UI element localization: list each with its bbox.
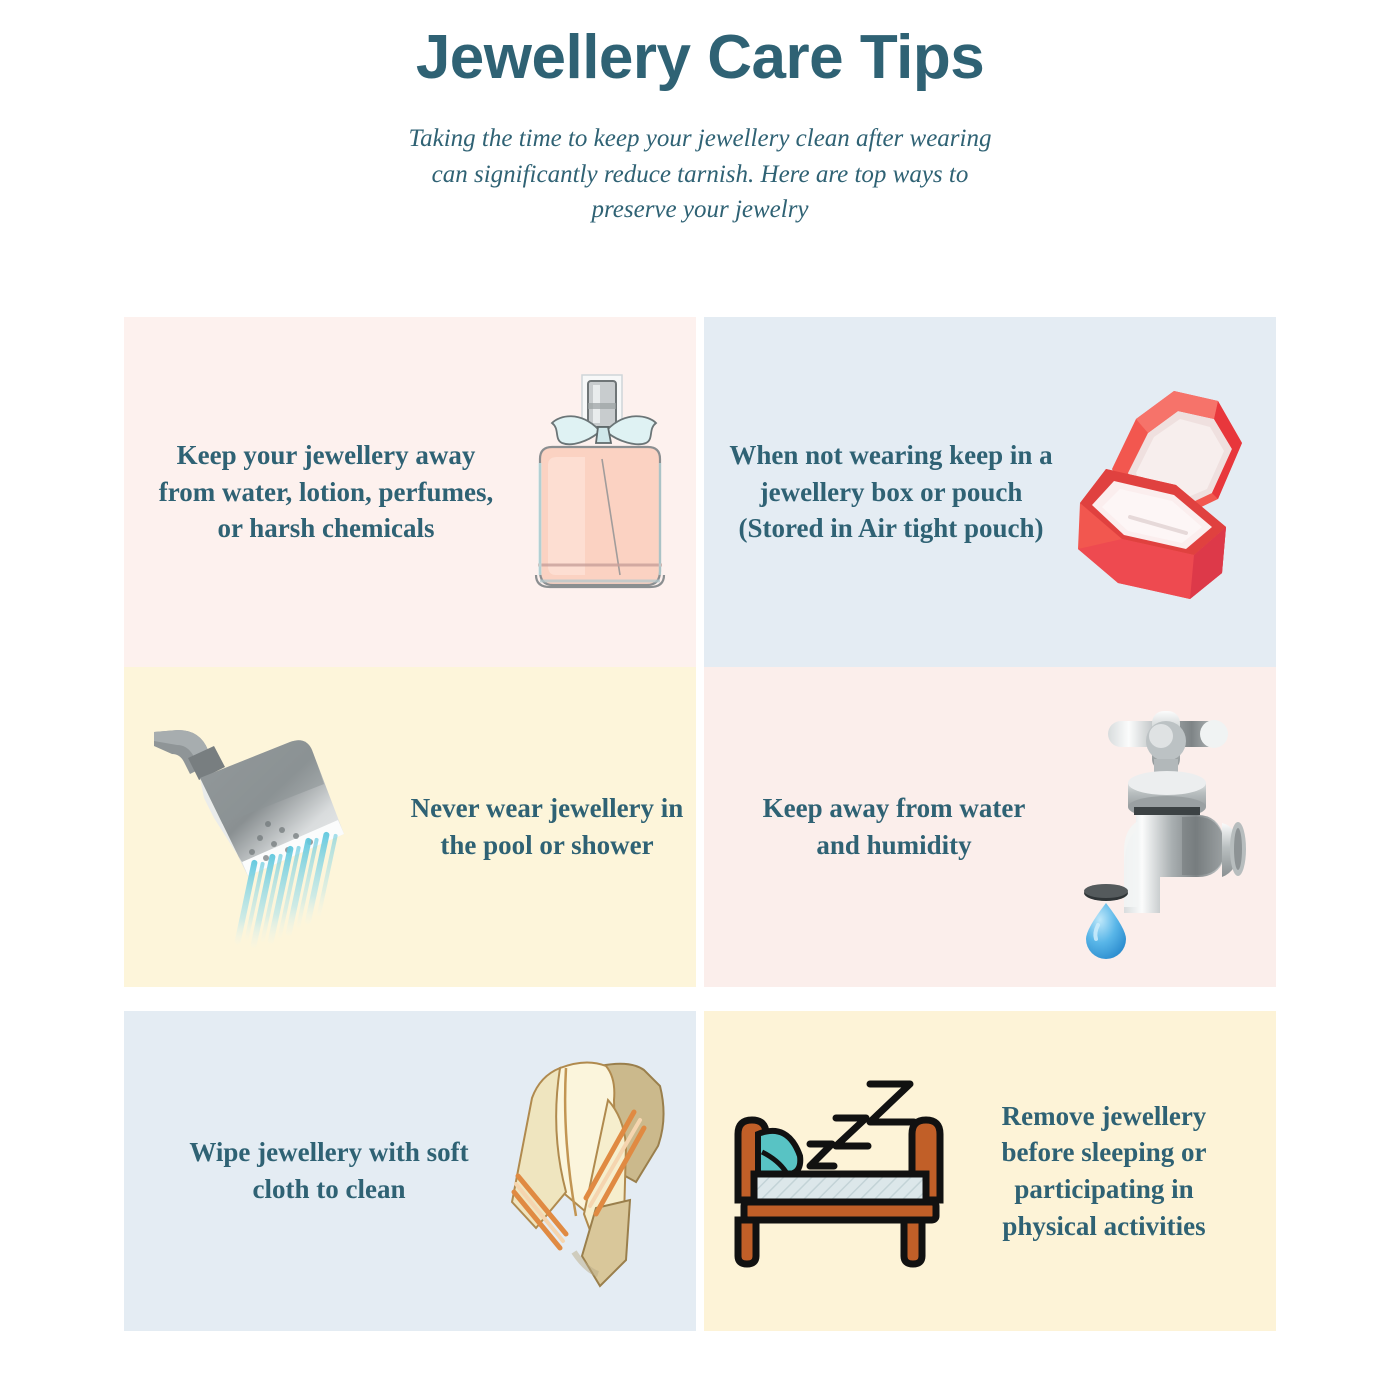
perfume-bottle-icon (510, 367, 690, 617)
page-header: Jewellery Care Tips Taking the time to k… (0, 0, 1400, 228)
tip-card-no-pool-or-shower[interactable]: Never wear jewellery in the pool or show… (124, 667, 696, 987)
grid-cell-4: Keep away from water and humidity (700, 667, 1276, 1011)
tip-card-text: Remove jewellery before sleeping or part… (964, 1098, 1244, 1245)
tip-card-text: Keep away from water and humidity (744, 790, 1044, 863)
grid-cell-6: Remove jewellery before sleeping or part… (700, 1011, 1276, 1355)
tip-card-wipe-with-cloth[interactable]: Wipe jewellery with soft cloth to clean (124, 1011, 696, 1331)
ring-box-icon (1066, 377, 1266, 607)
tip-card-text: When not wearing keep in a jewellery box… (726, 437, 1056, 547)
bed-sleep-icon (724, 1066, 954, 1276)
tip-card-remove-before-sleeping[interactable]: Remove jewellery before sleeping or part… (704, 1011, 1276, 1331)
tip-card-away-from-water[interactable]: Keep away from water and humidity (704, 667, 1276, 987)
tips-grid: Keep your jewellery away from water, lot… (124, 317, 1275, 1355)
tip-card-store-in-box[interactable]: When not wearing keep in a jewellery box… (704, 317, 1276, 667)
shower-head-icon (148, 712, 388, 942)
tip-card-text: Never wear jewellery in the pool or show… (398, 790, 696, 863)
tip-card-text: Keep your jewellery away from water, lot… (146, 437, 506, 547)
tip-card-away-from-chemicals[interactable]: Keep your jewellery away from water, lot… (124, 317, 696, 667)
page-title: Jewellery Care Tips (0, 22, 1400, 93)
infographic-page: Jewellery Care Tips Taking the time to k… (0, 0, 1400, 1400)
grid-cell-5: Wipe jewellery with soft cloth to clean (124, 1011, 700, 1355)
cloth-icon (504, 1056, 694, 1286)
grid-cell-2: When not wearing keep in a jewellery box… (700, 317, 1276, 667)
grid-cell-1: Keep your jewellery away from water, lot… (124, 317, 700, 667)
page-subtitle: Taking the time to keep your jewellery c… (390, 121, 1010, 228)
faucet-icon (1062, 707, 1272, 947)
grid-cell-3: Never wear jewellery in the pool or show… (124, 667, 700, 1011)
tip-card-text: Wipe jewellery with soft cloth to clean (164, 1134, 494, 1207)
